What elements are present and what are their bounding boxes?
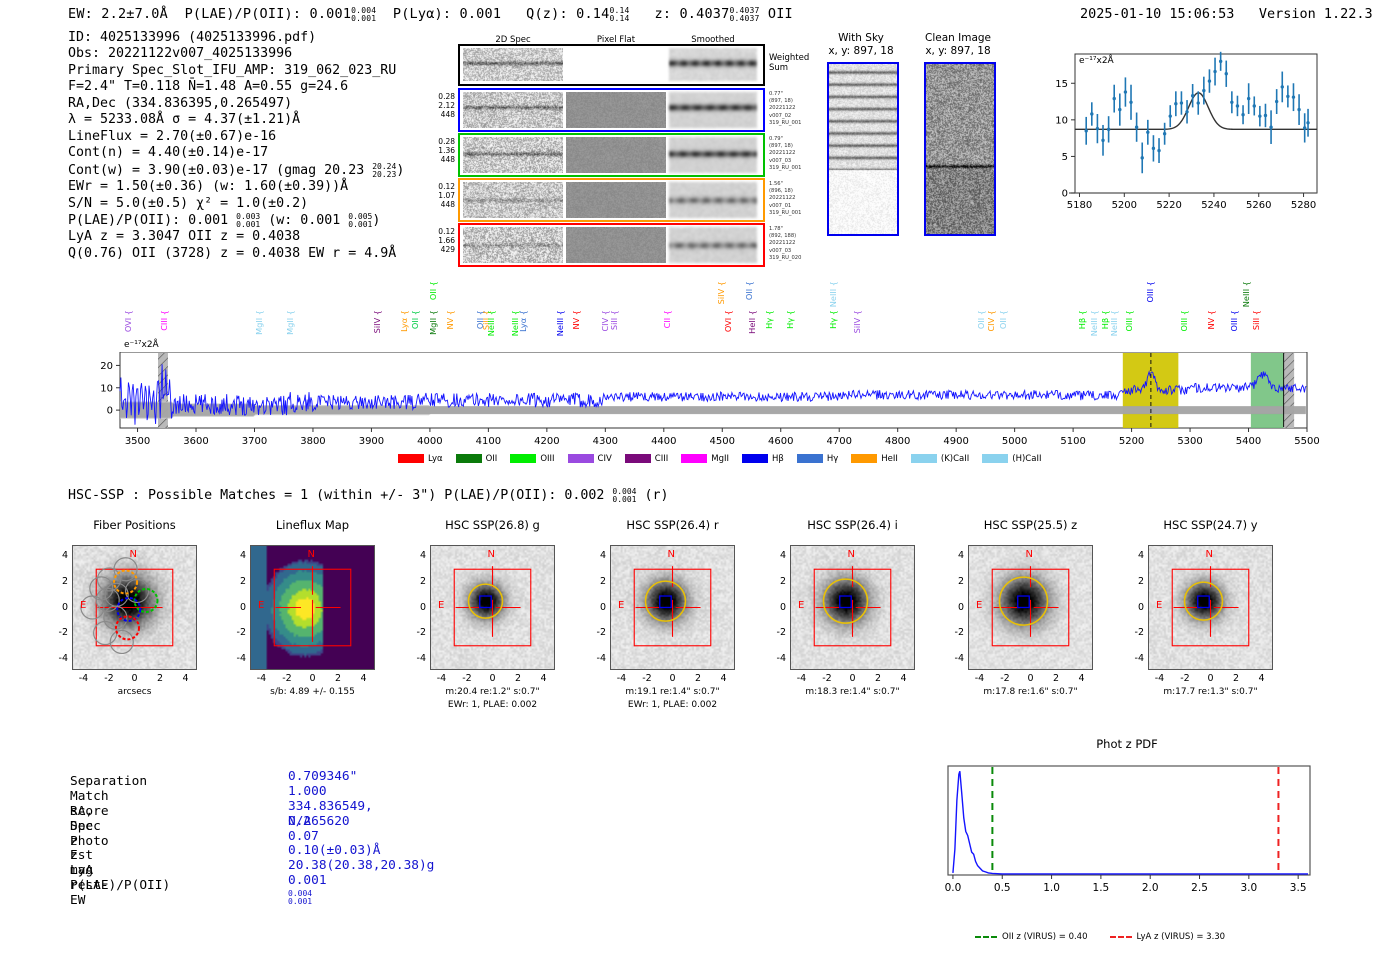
imaging-xtick: -2 (639, 673, 655, 684)
cutout-row-numbers: 0.282.12448 (415, 92, 455, 120)
imaging-xtick: 2 (870, 673, 886, 684)
cutout-smoothed-image (669, 137, 757, 173)
info-ewr: EWr = 1.50(±0.36) (w: 1.60(±0.39))Å (68, 179, 404, 195)
emission-line-label: OIII { (1230, 310, 1238, 332)
emission-line-label: SiIV { (717, 281, 725, 304)
imaging-panel-title: HSC SSP(24.7) y (1130, 518, 1291, 532)
header-timestamp-version: 2025-01-10 15:06:53 Version 1.22.3 (1080, 6, 1373, 22)
compass-e-label: E (976, 600, 982, 611)
emission-line-label: OII { (977, 310, 985, 329)
imaging-caption: EWr: 1, PLAE: 0.002 (398, 700, 587, 710)
match-table-value: N/A (288, 815, 311, 830)
imaging-xtick: 4 (896, 673, 912, 684)
imaging-xtick: 4 (1254, 673, 1270, 684)
info-lambda: λ = 5233.08Å σ = 4.37(±1.21)Å (68, 112, 404, 128)
svg-text:5180: 5180 (1067, 200, 1092, 211)
info-q-row: Q(0.76) OII (3728) z = 0.4038 EW r = 4.9… (68, 246, 404, 262)
svg-text:5200: 5200 (1112, 200, 1137, 211)
legend-color-swatch (982, 454, 1008, 463)
header-z-lo: 0.4037 (729, 14, 759, 23)
cutout-pixelflat-image (566, 137, 666, 173)
match-table-value: 0.709346" (288, 770, 357, 785)
compass-n-label: N (488, 549, 495, 560)
emission-line-label: OVI { (724, 310, 732, 332)
emission-line-label: NeIII { (487, 310, 495, 336)
spectrum-legend: LyαOIIOIIICIVCIIIMgIIHβHγHeII(K)CaII(H)C… (398, 454, 1054, 464)
svg-text:3800: 3800 (300, 436, 325, 447)
cutout-smoothed-image (669, 182, 757, 218)
phot-z-legend-item: OII z (VIRUS) = 0.40 (975, 932, 1088, 942)
imaging-xtick: 2 (330, 673, 346, 684)
emission-line-label: Hγ { (829, 310, 837, 329)
spectrum-legend-item: CIV (568, 454, 612, 464)
imaging-xtick: 4 (536, 673, 552, 684)
match-table-value-range: 0.0040.001 (288, 890, 312, 906)
info-cont-n: Cont(n) = 4.40(±0.14)e-17 (68, 145, 404, 161)
svg-text:4500: 4500 (710, 436, 735, 447)
svg-text:5280: 5280 (1291, 200, 1316, 211)
imaging-caption: EWr: 1, PLAE: 0.002 (578, 700, 767, 710)
emission-line-label: OII { (745, 281, 753, 300)
sky-panel-coords: x, y: 897, 18 (805, 45, 917, 58)
legend-label: OIII (540, 454, 554, 464)
legend-label: CIII (655, 454, 668, 464)
match-table-key: P(LAE)/P(OII) (70, 879, 170, 894)
svg-text:0.0: 0.0 (945, 882, 962, 894)
compass-e-label: E (438, 600, 444, 611)
spectrum-units-annotation: e⁻¹⁷x2Å (124, 340, 159, 350)
phot-z-legend-label: OII z (VIRUS) = 0.40 (1002, 932, 1088, 942)
header-z-value: 0.4037 (679, 6, 729, 22)
svg-text:4700: 4700 (826, 436, 851, 447)
imaging-ytick: -4 (1128, 653, 1144, 664)
cutout-2dspec-image (463, 92, 563, 128)
imaging-ytick: 2 (590, 576, 606, 587)
cutout-smoothed-image (669, 227, 757, 263)
imaging-ytick: 4 (590, 550, 606, 561)
info-cont-w: Cont(w) = 3.90(±0.03)e-17 (gmag 20.23 20… (68, 162, 404, 179)
emission-line-label: NV { (572, 310, 580, 330)
imaging-ytick: 0 (52, 602, 68, 613)
spectrum-legend-item: (K)CaII (911, 454, 969, 464)
info-z-row: LyA z = 3.3047 OII z = 0.4038 (68, 229, 404, 245)
imaging-xtick: 0 (665, 673, 681, 684)
compass-n-label: N (308, 549, 315, 560)
imaging-ytick: -2 (410, 627, 426, 638)
compass-n-label: N (130, 549, 137, 560)
svg-text:4600: 4600 (768, 436, 793, 447)
imaging-xtick: -2 (459, 673, 475, 684)
sky-panel-image (924, 62, 996, 236)
svg-text:5000: 5000 (1002, 436, 1027, 447)
sky-panel-title: With Skyx, y: 897, 18 (805, 32, 917, 58)
info-plae-pre: P(LAE)/P(OII): 0.001 (68, 213, 236, 228)
legend-color-swatch (398, 454, 424, 463)
imaging-xtick: 2 (152, 673, 168, 684)
sky-panel-title: Clean Imagex, y: 897, 18 (902, 32, 1014, 58)
phot-z-pdf-title: Phot z PDF (932, 737, 1322, 751)
sky-panel-name: Clean Image (902, 32, 1014, 45)
imaging-caption: m:19.1 re:1.4" s:0.7" (578, 687, 767, 697)
match-table-key: Separation (70, 775, 147, 790)
svg-text:5100: 5100 (1060, 436, 1085, 447)
match-table-value: 0.001 0.0040.001 (288, 874, 327, 905)
imaging-axis-label: s/b: 4.89 +/- 0.155 (220, 687, 405, 697)
emission-line-label: SiIV { (373, 310, 381, 333)
match-table-value: 20.38(20.38,20.38)g (288, 859, 434, 874)
imaging-panel-title: Fiber Positions (54, 518, 215, 532)
emission-line-label: OVI { (124, 310, 132, 332)
emission-line-label: CIII { (160, 310, 168, 331)
legend-label: Lyα (428, 454, 443, 464)
phot-z-legend: OII z (VIRUS) = 0.40LyA z (VIRUS) = 3.30 (975, 932, 1247, 942)
imaging-caption: m:17.7 re:1.3" s:0.7" (1116, 687, 1305, 697)
svg-text:5500: 5500 (1294, 436, 1319, 447)
legend-color-swatch (742, 454, 768, 463)
imaging-xtick: 0 (1023, 673, 1039, 684)
imaging-ytick: -4 (410, 653, 426, 664)
imaging-ytick: -4 (770, 653, 786, 664)
info-spec-slot: Primary Spec_Slot_IFU_AMP: 319_062_023_R… (68, 63, 404, 79)
imaging-ytick: 0 (770, 602, 786, 613)
compass-e-label: E (798, 600, 804, 611)
match-table-key: mag (70, 864, 93, 879)
imaging-caption: m:18.3 re:1.4" s:0.7" (758, 687, 947, 697)
emission-line-label: MgII { (286, 310, 294, 335)
emission-line-label: MgII { (429, 310, 437, 335)
emission-line-label: HeII { (748, 310, 756, 334)
imaging-xtick: 0 (1203, 673, 1219, 684)
compass-e-label: E (258, 600, 264, 611)
legend-color-swatch (797, 454, 823, 463)
line-fit-units-annotation: e⁻¹⁷x2Å (1079, 56, 1114, 66)
svg-text:1.0: 1.0 (1043, 882, 1060, 894)
cutout-row-meta: 0.79"(897, 18)20221122v007_03319_RU_001 (769, 136, 801, 172)
imaging-ytick: 2 (948, 576, 964, 587)
match-table-value: 0.10(±0.03)Å (288, 844, 380, 859)
svg-text:4000: 4000 (417, 436, 442, 447)
compass-n-label: N (1026, 549, 1033, 560)
svg-text:5240: 5240 (1201, 200, 1226, 211)
info-plae-lo: 0.001 (236, 220, 260, 229)
header-qz-value: 0.14 (576, 6, 609, 22)
header-timestamp: 2025-01-10 15:06:53 (1080, 6, 1234, 22)
header-plae-value: 0.001 (310, 6, 352, 22)
imaging-xtick: 4 (1074, 673, 1090, 684)
svg-text:4300: 4300 (593, 436, 618, 447)
imaging-ytick: 4 (948, 550, 964, 561)
emission-line-label: Hγ { (765, 310, 773, 329)
imaging-ytick: 4 (52, 550, 68, 561)
cutout-2dspec-weighted (463, 48, 563, 81)
emission-line-label: CII { (663, 310, 671, 328)
info-cont-w-lo: 20.23 (372, 170, 396, 179)
hsc-ssp-headline: HSC-SSP : Possible Matches = 1 (within +… (68, 487, 669, 503)
imaging-xtick: 4 (356, 673, 372, 684)
cutout-row-meta: 1.56"(896, 18)20221122v007_01319_RU_001 (769, 181, 801, 217)
spectrum-legend-item: Hβ (742, 454, 784, 464)
cutout-row-numbers: 0.121.07448 (415, 182, 455, 210)
header-summary: EW: 2.2±7.0Å P(LAE)/P(OII): 0.0010.0040.… (68, 6, 793, 22)
legend-label: HeII (881, 454, 898, 464)
imaging-panel-title: Lineflux Map (232, 518, 393, 532)
header-qz-label: Q(z): (526, 6, 568, 22)
cutout-smoothed-weighted (669, 48, 757, 81)
weighted-sum-label: WeightedSum (769, 53, 809, 73)
emission-line-label: Hγ { (786, 310, 794, 329)
info-sn: S/N = 5.0(±0.5) χ² = 1.0(±0.2) (68, 196, 404, 212)
header-plae-lo: 0.001 (351, 14, 376, 23)
svg-text:3.5: 3.5 (1290, 882, 1307, 894)
imaging-xtick: -4 (793, 673, 809, 684)
emission-line-label: MgII { (255, 310, 263, 335)
imaging-xtick: -4 (1151, 673, 1167, 684)
spectrum-legend-item: HeII (851, 454, 898, 464)
imaging-caption: m:20.4 re:1.2" s:0.7" (398, 687, 587, 697)
legend-label: CIV (598, 454, 612, 464)
legend-label: (K)CaII (941, 454, 969, 464)
legend-label: Hβ (772, 454, 784, 464)
emission-line-label: OIII { (1180, 310, 1188, 332)
imaging-ytick: 4 (230, 550, 246, 561)
header-plae-label: P(LAE)/P(OII): (185, 6, 302, 22)
compass-n-label: N (1206, 549, 1213, 560)
legend-color-swatch (851, 454, 877, 463)
imaging-panel-title: HSC SSP(25.5) z (950, 518, 1111, 532)
phot-z-legend-item: LyA z (VIRUS) = 3.30 (1110, 932, 1226, 942)
info-radec: RA,Dec (334.836395,0.265497) (68, 96, 404, 112)
svg-text:3.0: 3.0 (1240, 882, 1257, 894)
imaging-ytick: -2 (590, 627, 606, 638)
svg-text:4200: 4200 (534, 436, 559, 447)
imaging-ytick: 4 (410, 550, 426, 561)
info-seeing: F=2.4" T=0.118 N̄=1.48 A=0.55 g=24.6 (68, 79, 404, 95)
header-z-type: OII (768, 6, 793, 22)
cutout-row-meta: 0.77"(897, 18)20221122v007_02319_RU_001 (769, 91, 801, 127)
emission-line-label: OIII { (1146, 281, 1154, 303)
info-plae-mid: (w: 0.001 (260, 213, 348, 228)
svg-text:3900: 3900 (359, 436, 384, 447)
imaging-ytick: -2 (770, 627, 786, 638)
spectrum-legend-item: OII (456, 454, 498, 464)
spectrum-legend-item: CIII (625, 454, 668, 464)
emission-line-label: Lyα { (519, 310, 527, 332)
svg-text:15: 15 (1055, 79, 1068, 90)
imaging-ytick: -2 (948, 627, 964, 638)
imaging-panel-title: HSC SSP(26.8) g (412, 518, 573, 532)
svg-text:5400: 5400 (1236, 436, 1261, 447)
spectrum-legend-item: OIII (510, 454, 554, 464)
info-plae-end: ) (372, 213, 380, 228)
cutout-2dspec-image (463, 182, 563, 218)
sky-panel-name: With Sky (805, 32, 917, 45)
info-id: ID: 4025133996 (4025133996.pdf) (68, 30, 404, 46)
cutout-pixelflat-image (566, 227, 666, 263)
imaging-ytick: 0 (948, 602, 964, 613)
svg-text:5220: 5220 (1156, 200, 1181, 211)
svg-text:5260: 5260 (1246, 200, 1271, 211)
svg-text:4100: 4100 (476, 436, 501, 447)
imaging-xtick: 2 (1048, 673, 1064, 684)
legend-label: OII (486, 454, 498, 464)
header-z-label: z: (655, 6, 672, 22)
emission-line-label: SiIV { (853, 310, 861, 333)
cutout-row-numbers: 0.121.66429 (415, 227, 455, 255)
svg-text:3600: 3600 (183, 436, 208, 447)
emission-line-label: OII { (429, 281, 437, 300)
emission-line-label: NeIII { (1242, 281, 1250, 307)
info-obs: Obs: 20221122v007_4025133996 (68, 46, 404, 62)
emission-line-label: OIII { (1125, 310, 1133, 332)
imaging-ytick: -2 (1128, 627, 1144, 638)
spectrum-legend-item: Lyα (398, 454, 443, 464)
spectrum-legend-item: MgII (681, 454, 729, 464)
imaging-ytick: -4 (948, 653, 964, 664)
imaging-xtick: 2 (1228, 673, 1244, 684)
imaging-xtick: -4 (253, 673, 269, 684)
info-plae-wlo: 0.001 (348, 220, 372, 229)
imaging-ytick: 2 (770, 576, 786, 587)
imaging-xtick: -2 (819, 673, 835, 684)
legend-color-swatch (625, 454, 651, 463)
imaging-xtick: -2 (279, 673, 295, 684)
header-version: Version 1.22.3 (1259, 6, 1373, 22)
svg-text:1.5: 1.5 (1093, 882, 1110, 894)
imaging-ytick: -4 (230, 653, 246, 664)
match-table-value-lo: 0.001 (288, 897, 312, 906)
imaging-xtick: 0 (485, 673, 501, 684)
imaging-xtick: -4 (433, 673, 449, 684)
hsc-headline-pre: HSC-SSP : Possible Matches = 1 (within +… (68, 488, 612, 503)
imaging-xtick: 0 (127, 673, 143, 684)
svg-text:4800: 4800 (885, 436, 910, 447)
imaging-xtick: 0 (305, 673, 321, 684)
imaging-panel-title: HSC SSP(26.4) r (592, 518, 753, 532)
info-cont-w-text: Cont(w) = 3.90(±0.03)e-17 (gmag 20.23 (68, 163, 372, 178)
imaging-ytick: 2 (410, 576, 426, 587)
legend-label: MgII (711, 454, 729, 464)
svg-text:2.0: 2.0 (1142, 882, 1159, 894)
emission-line-label: CIV { (987, 310, 995, 332)
emission-line-label: SiII { (610, 310, 618, 330)
cutout-2dspec-image (463, 227, 563, 263)
imaging-ytick: -2 (230, 627, 246, 638)
imaging-xtick: -2 (997, 673, 1013, 684)
phot-z-legend-label: LyA z (VIRUS) = 3.30 (1137, 932, 1226, 942)
svg-text:0: 0 (107, 406, 113, 417)
compass-e-label: E (618, 600, 624, 611)
emission-line-label: NeIII { (829, 281, 837, 307)
svg-text:5200: 5200 (1119, 436, 1144, 447)
header-ew: EW: 2.2±7.0Å (68, 6, 168, 22)
info-lineflux: LineFlux = 2.70(±0.67)e-16 (68, 129, 404, 145)
legend-color-swatch (911, 454, 937, 463)
header-qz-lo: 0.14 (609, 14, 629, 23)
imaging-ytick: 2 (230, 576, 246, 587)
imaging-ytick: 0 (590, 602, 606, 613)
header-plya: P(Lyα): 0.001 (393, 6, 501, 22)
imaging-ytick: 4 (1128, 550, 1144, 561)
svg-text:0.5: 0.5 (994, 882, 1011, 894)
emission-line-label: OII { (411, 310, 419, 329)
imaging-ytick: 0 (230, 602, 246, 613)
svg-text:2.5: 2.5 (1191, 882, 1208, 894)
svg-text:4900: 4900 (943, 436, 968, 447)
compass-n-label: N (668, 549, 675, 560)
hsc-headline-post: (r) (636, 488, 668, 503)
svg-text:10: 10 (100, 383, 113, 394)
phot-z-legend-dash (975, 936, 997, 938)
match-table-value: 1.000 (288, 785, 327, 800)
svg-text:4400: 4400 (651, 436, 676, 447)
hsc-headline-lo: 0.001 (612, 495, 636, 504)
cutout-row-numbers: 0.281.36448 (415, 137, 455, 165)
cutout-2dspec-image (463, 137, 563, 173)
cutout-row-meta: 1.78"(892, 188)20221122v007_03319_RU_020 (769, 226, 801, 262)
imaging-xtick: -2 (1177, 673, 1193, 684)
emission-line-label: NeIII { (1110, 310, 1118, 336)
cutout-smoothed-image (669, 92, 757, 128)
svg-text:5: 5 (1062, 152, 1068, 163)
svg-text:10: 10 (1055, 115, 1068, 126)
cutout-pixelflat-image (566, 92, 666, 128)
compass-e-label: E (80, 600, 86, 611)
legend-color-swatch (568, 454, 594, 463)
imaging-xtick: -2 (101, 673, 117, 684)
cutout-pixelflat-image (566, 182, 666, 218)
source-info-block: ID: 4025133996 (4025133996.pdf) Obs: 202… (68, 30, 404, 262)
sky-panel-image (827, 62, 899, 236)
svg-text:5300: 5300 (1177, 436, 1202, 447)
phot-z-legend-dash (1110, 936, 1132, 938)
imaging-panel-title: HSC SSP(26.4) i (772, 518, 933, 532)
imaging-xtick: 2 (510, 673, 526, 684)
imaging-xtick: -4 (971, 673, 987, 684)
emission-line-label: OII { (999, 310, 1007, 329)
emission-line-label: NeIII { (1090, 310, 1098, 336)
emission-line-label: NV { (1207, 310, 1215, 330)
imaging-ytick: 0 (1128, 602, 1144, 613)
imaging-ytick: 4 (770, 550, 786, 561)
imaging-ytick: 2 (52, 576, 68, 587)
legend-color-swatch (681, 454, 707, 463)
emission-line-label: NeIII { (556, 310, 564, 336)
imaging-xtick: -4 (613, 673, 629, 684)
imaging-xtick: 2 (690, 673, 706, 684)
sky-panel-coords: x, y: 897, 18 (902, 45, 1014, 58)
imaging-axis-label: arcsecs (42, 687, 227, 697)
legend-color-swatch (510, 454, 536, 463)
imaging-ytick: -2 (52, 627, 68, 638)
legend-label: Hγ (827, 454, 838, 464)
imaging-ytick: 2 (1128, 576, 1144, 587)
svg-text:0: 0 (1062, 189, 1068, 200)
emission-line-label: NV { (446, 310, 454, 330)
info-cont-w-end: ) (396, 163, 404, 178)
imaging-xtick: 4 (178, 673, 194, 684)
legend-label: (H)CaII (1012, 454, 1041, 464)
emission-line-label: Hβ { (1078, 310, 1086, 329)
legend-color-swatch (456, 454, 482, 463)
svg-text:3700: 3700 (242, 436, 267, 447)
imaging-caption: m:17.8 re:1.6" s:0.7" (936, 687, 1125, 697)
emission-line-label: Lyα { (400, 310, 408, 332)
spectrum-legend-item: (H)CaII (982, 454, 1041, 464)
svg-text:3500: 3500 (125, 436, 150, 447)
imaging-xtick: 4 (716, 673, 732, 684)
imaging-ytick: -4 (590, 653, 606, 664)
compass-n-label: N (848, 549, 855, 560)
